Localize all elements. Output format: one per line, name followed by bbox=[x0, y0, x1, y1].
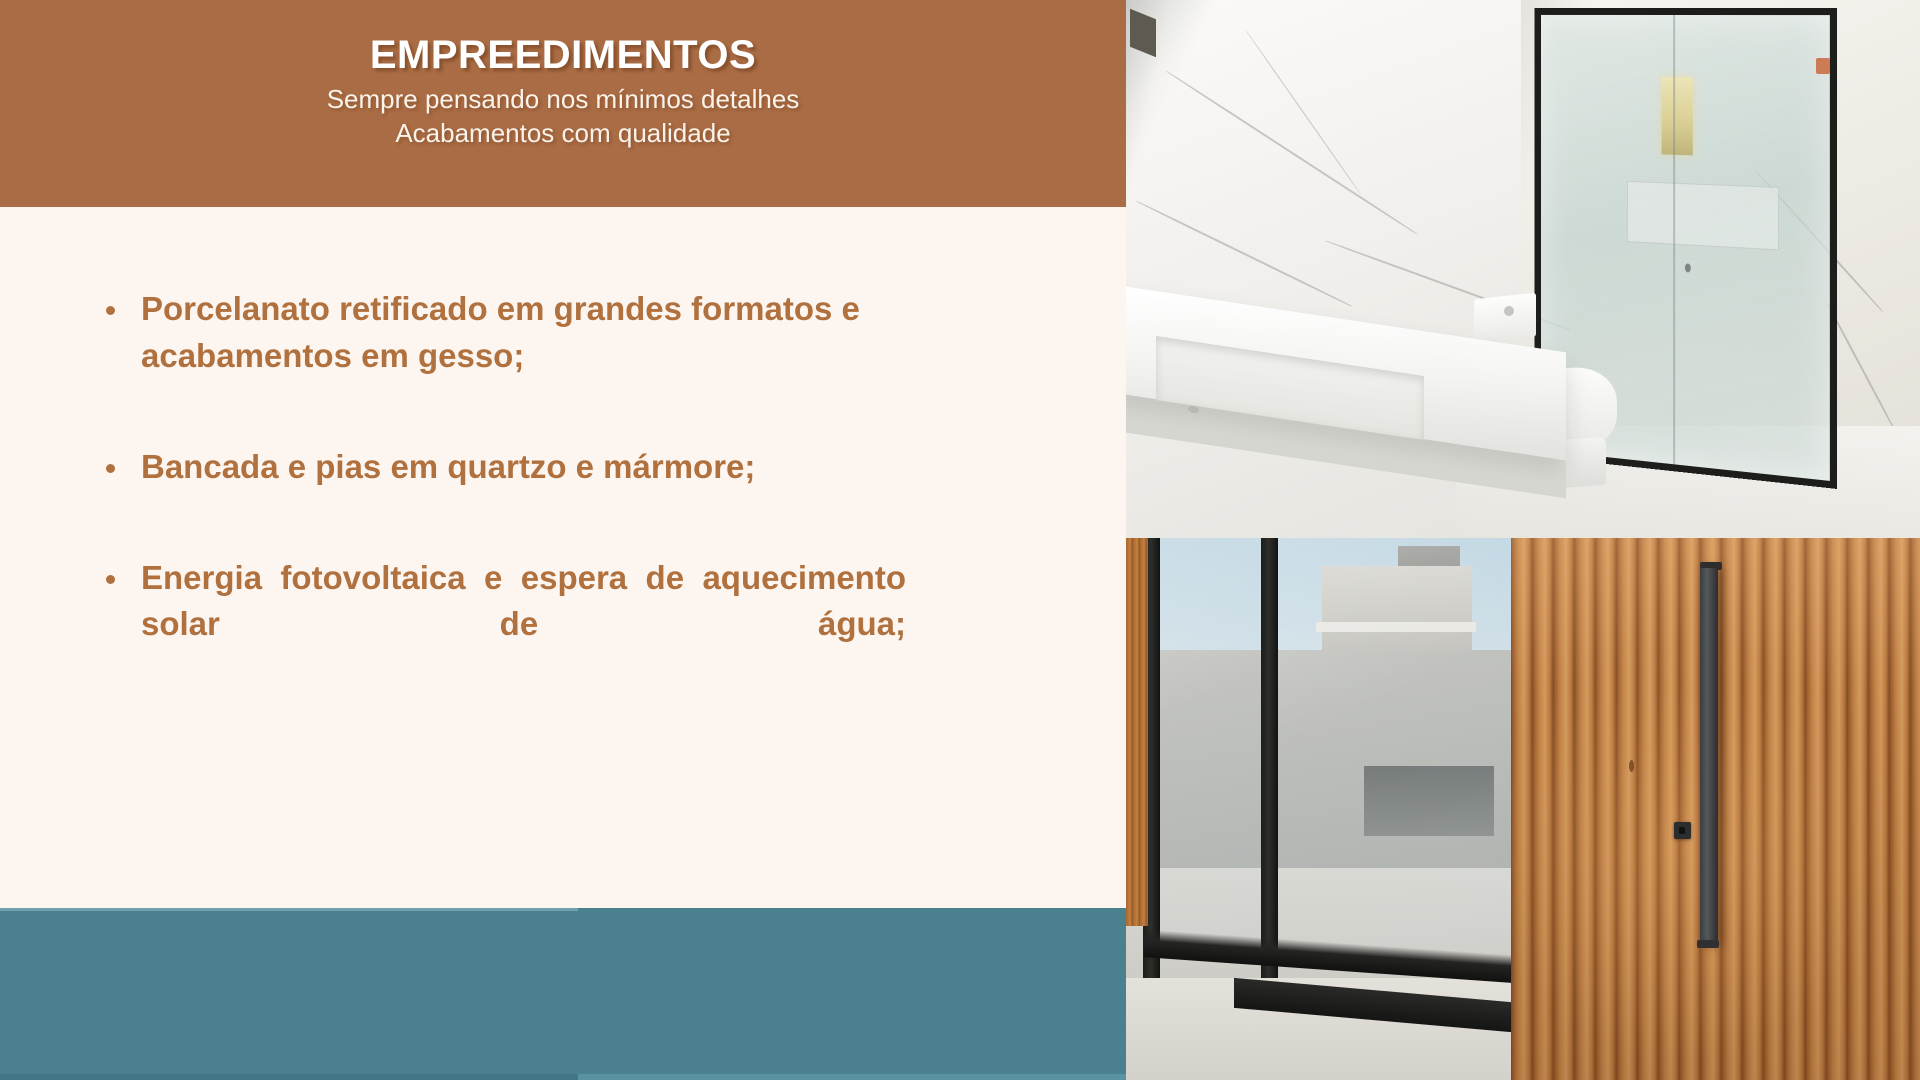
wood-slat-panel-edge bbox=[1126, 538, 1148, 926]
wall-marker bbox=[1816, 58, 1830, 74]
list-item-text: Energia fotovoltaica e espera de aquecim… bbox=[141, 555, 906, 696]
photo-grid bbox=[1126, 0, 1920, 1080]
toilet-flush-button-icon bbox=[1504, 306, 1514, 316]
bullet-dot-icon bbox=[106, 306, 115, 315]
wood-door-photo bbox=[1511, 538, 1920, 1080]
header-subtitle-line-1: Sempre pensando nos mínimos detalhes bbox=[327, 82, 800, 116]
door-keyhole-icon bbox=[1679, 827, 1685, 834]
wood-knot bbox=[1629, 760, 1634, 772]
door-pull-handle bbox=[1700, 568, 1718, 946]
list-item-text: Bancada e pias em quartzo e mármore; bbox=[141, 448, 755, 485]
glass-pane-right bbox=[1278, 538, 1511, 950]
door-frame-middle bbox=[1261, 538, 1278, 978]
glass-pane-left bbox=[1143, 538, 1261, 950]
header-band: EMPREEDIMENTOS Sempre pensando nos mínim… bbox=[0, 0, 1126, 207]
shower-window bbox=[1662, 77, 1693, 156]
bullet-dot-icon bbox=[106, 464, 115, 473]
sliding-door-photo bbox=[1126, 538, 1511, 1080]
list-item: Bancada e pias em quartzo e mármore; bbox=[96, 444, 906, 491]
list-item: Porcelanato retificado em grandes format… bbox=[96, 286, 906, 380]
presentation-slide: EMPREEDIMENTOS Sempre pensando nos mínim… bbox=[0, 0, 1920, 1080]
bathroom-photo bbox=[1126, 0, 1920, 538]
footer-accent-right bbox=[578, 1074, 1126, 1080]
shower-knob-icon bbox=[1685, 263, 1691, 272]
content-panel: EMPREEDIMENTOS Sempre pensando nos mínim… bbox=[0, 0, 1126, 1080]
footer-band bbox=[0, 908, 1126, 1080]
page-title: EMPREEDIMENTOS bbox=[370, 34, 756, 76]
footer-divider-line bbox=[0, 908, 578, 911]
door-handle-bottom-mount bbox=[1697, 940, 1719, 948]
footer-accent-left bbox=[0, 1074, 578, 1080]
bullet-dot-icon bbox=[106, 575, 115, 584]
shower-wall-niche bbox=[1627, 181, 1779, 251]
glass-panel-seam bbox=[1673, 15, 1675, 464]
feature-bullet-list: Porcelanato retificado em grandes format… bbox=[96, 286, 906, 695]
header-subtitle-line-2: Acabamentos com qualidade bbox=[395, 116, 730, 150]
list-item: Energia fotovoltaica e espera de aquecim… bbox=[96, 555, 906, 696]
list-item-text: Porcelanato retificado em grandes format… bbox=[141, 290, 860, 374]
toilet-tank bbox=[1474, 293, 1536, 344]
